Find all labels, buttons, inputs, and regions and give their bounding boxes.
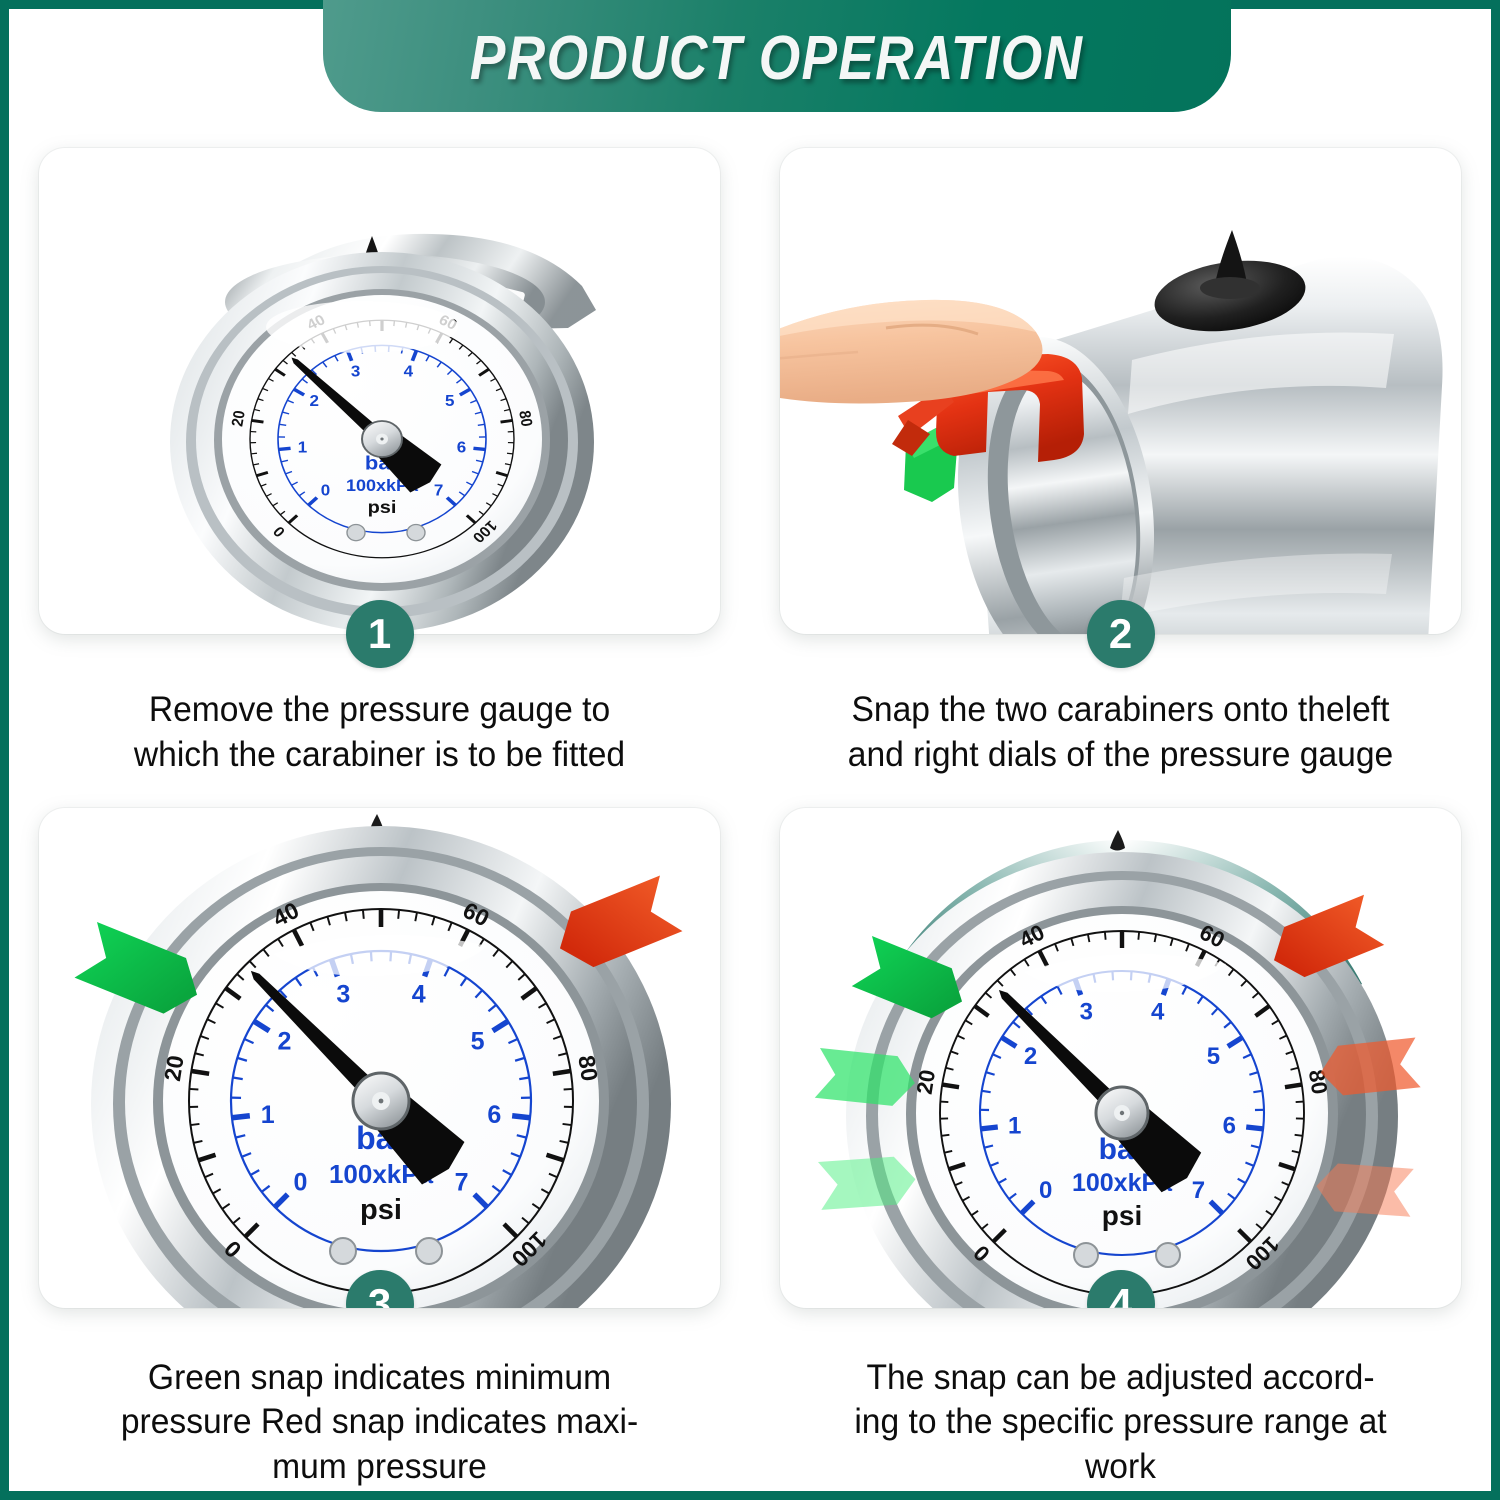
step-number: 3 (368, 1280, 391, 1308)
svg-text:20: 20 (159, 1053, 189, 1082)
step-number: 4 (1109, 1280, 1132, 1308)
caption-line: The snap can be adjusted accord- (801, 1356, 1439, 1401)
step-3-card: 01234567 020406080100 bar 100xkPa psi (39, 808, 720, 1308)
svg-text:6: 6 (487, 1100, 501, 1128)
step-4-card: 01234567 020406080100 bar 100xkPa psi (780, 808, 1461, 1308)
step-number: 2 (1109, 610, 1132, 658)
caption-line: mum pressure (60, 1445, 698, 1490)
step-panel-2: Warning: Severe personal injury or damag… (750, 122, 1491, 782)
step-1-caption: Remove the pressure gauge to which the c… (53, 688, 707, 778)
step-panel-4: 01234567 020406080100 bar 100xkPa psi (750, 782, 1491, 1494)
step-4-image: 01234567 020406080100 bar 100xkPa psi (780, 808, 1461, 1308)
carabiner-snap-illustration: Warning: Severe personal injury or damag… (780, 148, 1461, 634)
gauge-with-markers-illustration: 01234567 020406080100 bar 100xkPa psi (39, 808, 720, 1308)
svg-text:7: 7 (454, 1168, 468, 1196)
svg-text:4: 4 (1150, 998, 1164, 1025)
svg-text:1: 1 (260, 1100, 274, 1128)
svg-text:6: 6 (1222, 1112, 1235, 1139)
step-1-card: Warning: Severe personal injury or damag… (39, 148, 720, 634)
svg-text:0: 0 (320, 482, 329, 499)
svg-text:1: 1 (1007, 1112, 1020, 1139)
svg-text:2: 2 (277, 1027, 291, 1055)
svg-text:3: 3 (336, 980, 350, 1008)
header-banner: PRODUCT OPERATION (323, 0, 1231, 112)
caption-line: Snap the two carabiners onto theleft (801, 688, 1439, 733)
svg-text:5: 5 (470, 1027, 484, 1055)
caption-line: ing to the specific pressure range at (801, 1400, 1439, 1445)
caption-line: pressure Red snap indicates maxi- (60, 1400, 698, 1445)
step-panel-3: 01234567 020406080100 bar 100xkPa psi (9, 782, 750, 1494)
step-4-caption: The snap can be adjusted accord- ing to … (794, 1356, 1448, 1490)
svg-text:3: 3 (350, 363, 359, 380)
caption-line: Green snap indicates minimum (60, 1356, 698, 1401)
svg-text:20: 20 (911, 1067, 940, 1095)
gauge-adjust-illustration: 01234567 020406080100 bar 100xkPa psi (780, 808, 1461, 1308)
caption-line: work (801, 1445, 1439, 1490)
svg-text:7: 7 (1191, 1177, 1204, 1204)
svg-text:20: 20 (228, 409, 248, 427)
step-badge: 1 (346, 600, 414, 668)
step-panel-1: Warning: Severe personal injury or damag… (9, 122, 750, 782)
step-3-image: 01234567 020406080100 bar 100xkPa psi (39, 808, 720, 1308)
svg-text:4: 4 (411, 980, 425, 1008)
gauge-front-illustration: Warning: Severe personal injury or damag… (100, 162, 660, 632)
step-1-image: Warning: Severe personal injury or damag… (39, 148, 720, 634)
svg-text:2: 2 (1023, 1043, 1036, 1070)
steps-grid: Warning: Severe personal injury or damag… (9, 122, 1491, 1491)
svg-text:4: 4 (403, 363, 412, 380)
svg-text:5: 5 (1206, 1043, 1219, 1070)
step-number: 1 (368, 610, 391, 658)
svg-text:1: 1 (297, 439, 306, 456)
caption-line: which the carabiner is to be fitted (60, 733, 698, 778)
svg-text:5: 5 (445, 393, 454, 410)
page-title: PRODUCT OPERATION (470, 17, 1083, 94)
svg-text:3: 3 (1079, 998, 1092, 1025)
step-2-caption: Snap the two carabiners onto theleft and… (794, 688, 1448, 778)
caption-line: and right dials of the pressure gauge (801, 733, 1439, 778)
svg-text:2: 2 (309, 393, 318, 410)
step-2-card: Warning: Severe personal injury or damag… (780, 148, 1461, 634)
infographic-root: PRODUCT OPERATION (0, 0, 1500, 1500)
step-badge: 2 (1087, 600, 1155, 668)
svg-text:0: 0 (1038, 1177, 1051, 1204)
svg-text:80: 80 (573, 1053, 603, 1082)
svg-text:80: 80 (514, 409, 534, 427)
step-3-caption: Green snap indicates minimum pressure Re… (53, 1356, 707, 1490)
svg-text:6: 6 (456, 439, 465, 456)
svg-text:psi: psi (360, 1194, 402, 1226)
svg-text:7: 7 (433, 482, 442, 499)
step-2-image: Warning: Severe personal injury or damag… (780, 148, 1461, 634)
caption-line: Remove the pressure gauge to (60, 688, 698, 733)
svg-text:0: 0 (293, 1168, 307, 1196)
svg-text:psi: psi (1101, 1200, 1141, 1231)
svg-text:psi: psi (367, 498, 396, 518)
